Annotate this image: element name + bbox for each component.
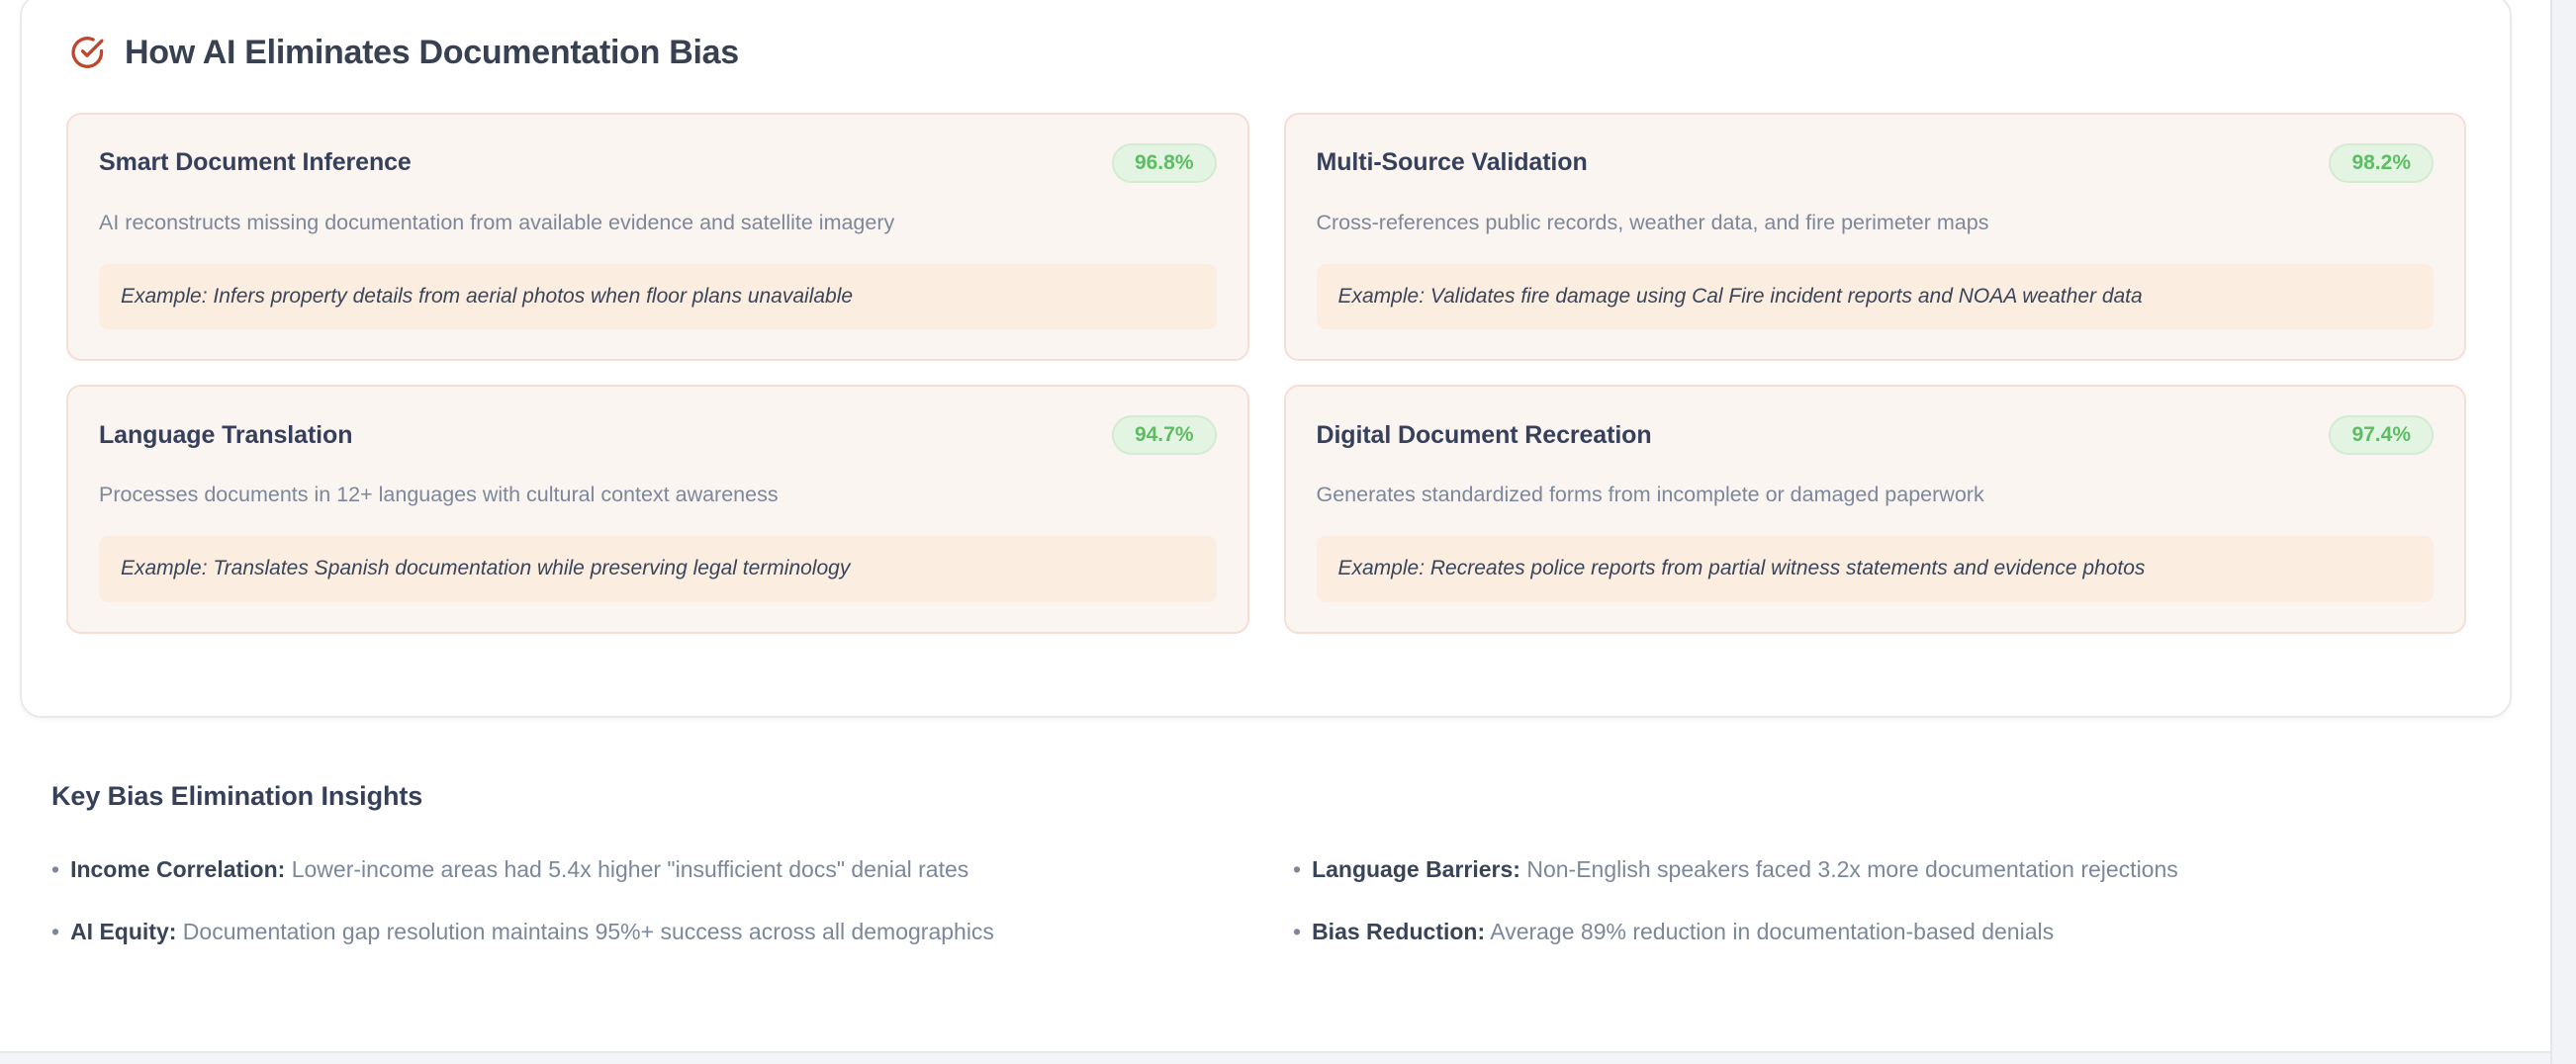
example-text: Example: Infers property details from ae…	[121, 283, 1195, 310]
insights-grid: • Income Correlation: Lower-income areas…	[51, 855, 2499, 946]
accuracy-badge: 98.2%	[2329, 143, 2434, 183]
page-title: How AI Eliminates Documentation Bias	[125, 36, 739, 69]
insight-item-bias-reduction: • Bias Reduction: Average 89% reduction …	[1293, 918, 2499, 946]
insight-item-ai-equity: • AI Equity: Documentation gap resolutio…	[51, 918, 1257, 946]
insight-body: Income Correlation: Lower-income areas h…	[70, 855, 1257, 884]
insight-label: Language Barriers:	[1312, 856, 1520, 882]
example-box: Example: Translates Spanish documentatio…	[99, 536, 1217, 601]
insight-body: AI Equity: Documentation gap resolution …	[70, 918, 1257, 946]
example-box: Example: Recreates police reports from p…	[1317, 536, 2435, 601]
app-root: How AI Eliminates Documentation Bias Sma…	[0, 0, 2576, 1064]
feature-description: Cross-references public records, weather…	[1317, 209, 2435, 237]
feature-description: AI reconstructs missing documentation fr…	[99, 209, 1217, 237]
card-header: Multi-Source Validation 98.2%	[1317, 143, 2435, 183]
bottom-strip	[0, 1053, 2550, 1064]
bullet-icon: •	[1293, 918, 1301, 946]
key-insights-section: Key Bias Elimination Insights • Income C…	[0, 781, 2550, 946]
insight-label: AI Equity:	[70, 919, 176, 944]
feature-card-digital-document-recreation[interactable]: Digital Document Recreation 97.4% Genera…	[1284, 385, 2467, 633]
insight-text: Non-English speakers faced 3.2x more doc…	[1526, 856, 2177, 882]
insight-item-income-correlation: • Income Correlation: Lower-income areas…	[51, 855, 1257, 884]
feature-description: Generates standardized forms from incomp…	[1317, 481, 2435, 509]
card-header: Smart Document Inference 96.8%	[99, 143, 1217, 183]
example-text: Example: Validates fire damage using Cal…	[1338, 283, 2413, 310]
bullet-icon: •	[51, 855, 59, 884]
feature-card-language-translation[interactable]: Language Translation 94.7% Processes doc…	[66, 385, 1249, 633]
bullet-icon: •	[1293, 855, 1301, 884]
insights-title: Key Bias Elimination Insights	[51, 781, 2499, 812]
example-box: Example: Infers property details from ae…	[99, 264, 1217, 329]
example-text: Example: Translates Spanish documentatio…	[121, 555, 1195, 581]
insight-item-language-barriers: • Language Barriers: Non-English speaker…	[1293, 855, 2499, 884]
check-circle-icon	[68, 34, 106, 71]
insight-text: Lower-income areas had 5.4x higher "insu…	[292, 856, 969, 882]
feature-card-multi-source-validation[interactable]: Multi-Source Validation 98.2% Cross-refe…	[1284, 113, 2467, 361]
insight-body: Language Barriers: Non-English speakers …	[1312, 855, 2499, 884]
example-text: Example: Recreates police reports from p…	[1338, 555, 2413, 581]
documentation-bias-panel: How AI Eliminates Documentation Bias Sma…	[20, 0, 2512, 718]
accuracy-badge: 97.4%	[2329, 415, 2434, 455]
page-content: How AI Eliminates Documentation Bias Sma…	[0, 0, 2550, 1064]
feature-description: Processes documents in 12+ languages wit…	[99, 481, 1217, 509]
feature-title: Multi-Source Validation	[1317, 149, 1588, 177]
feature-title: Language Translation	[99, 422, 352, 450]
insight-text: Average 89% reduction in documentation-b…	[1490, 919, 2054, 944]
card-header: Digital Document Recreation 97.4%	[1317, 415, 2435, 455]
insight-text: Documentation gap resolution maintains 9…	[183, 919, 994, 944]
card-header: Language Translation 94.7%	[99, 415, 1217, 455]
bullet-icon: •	[51, 918, 59, 946]
vertical-scrollbar[interactable]	[2550, 0, 2576, 1064]
accuracy-badge: 94.7%	[1112, 415, 1217, 455]
insight-body: Bias Reduction: Average 89% reduction in…	[1312, 918, 2499, 946]
feature-title: Digital Document Recreation	[1317, 422, 1652, 450]
feature-card-smart-document-inference[interactable]: Smart Document Inference 96.8% AI recons…	[66, 113, 1249, 361]
insight-label: Bias Reduction:	[1312, 919, 1485, 944]
insight-label: Income Correlation:	[70, 856, 285, 882]
panel-header: How AI Eliminates Documentation Bias	[22, 0, 2510, 71]
example-box: Example: Validates fire damage using Cal…	[1317, 264, 2435, 329]
feature-cards-grid: Smart Document Inference 96.8% AI recons…	[22, 71, 2510, 634]
accuracy-badge: 96.8%	[1112, 143, 1217, 183]
feature-title: Smart Document Inference	[99, 149, 412, 177]
